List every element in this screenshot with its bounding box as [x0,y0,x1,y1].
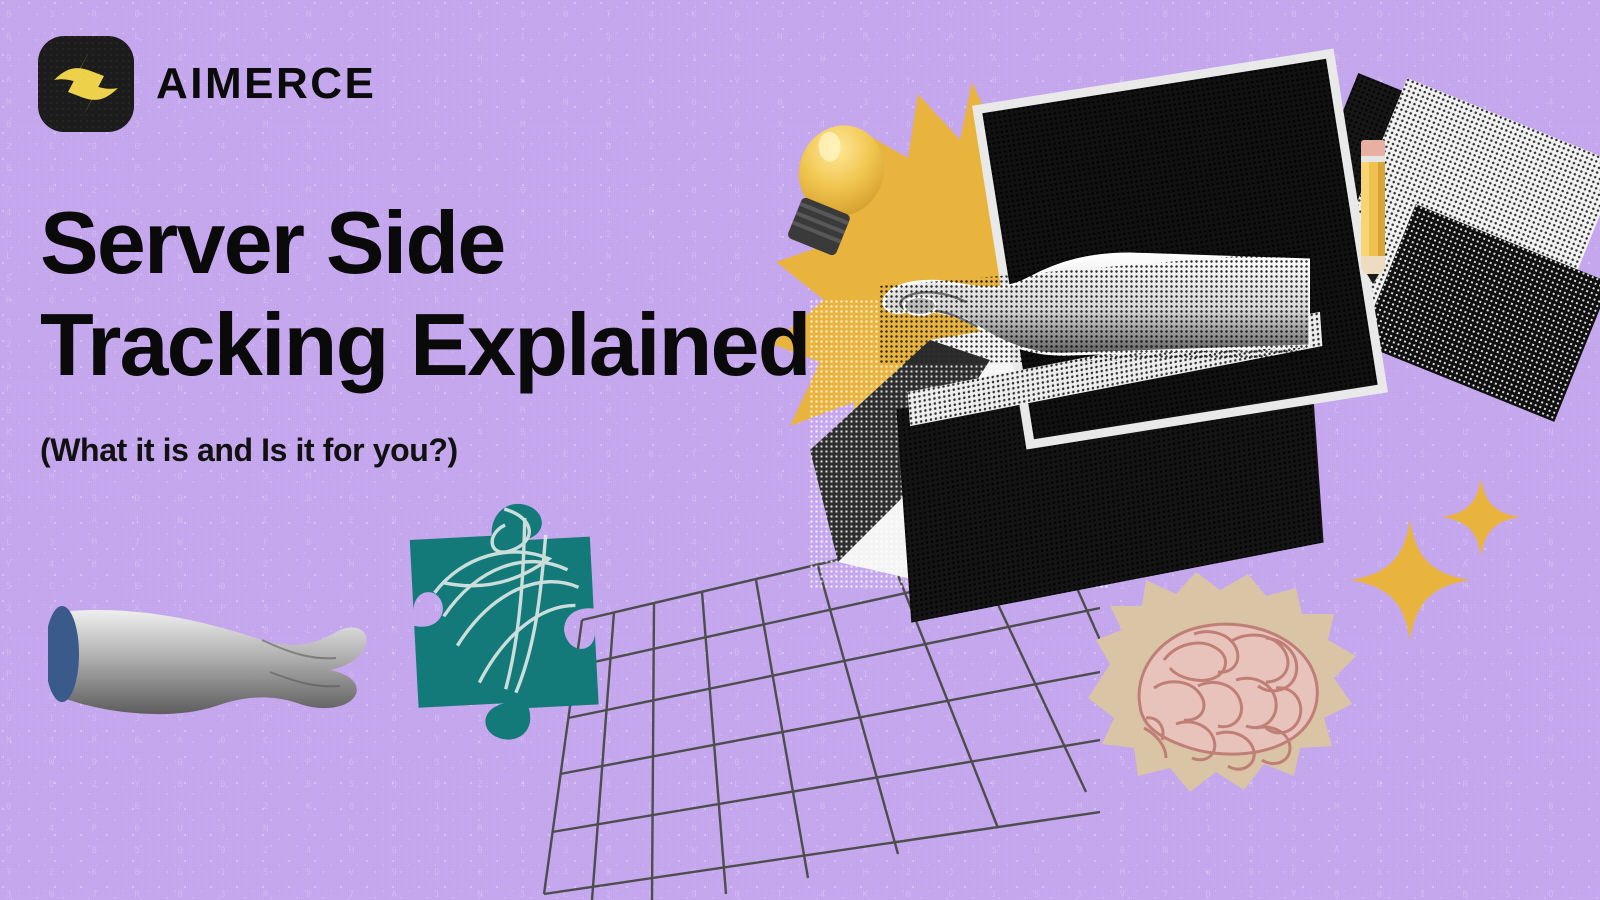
pencil-icon [1352,132,1394,290]
holding-arm [48,600,428,720]
hero-banner: 8 3 R 0 7 A 1 N 5 C 2 E 9 0 T 4 K 6 G 1 … [0,0,1600,900]
puzzle-piece [398,498,608,748]
brand-name: AIMERCE [156,62,376,106]
brand-logo[interactable]: AIMERCE [38,36,376,132]
page-subtitle: (What it is and Is it for you?) [40,432,458,469]
sparkle-icon-small [1442,478,1520,556]
page-title-line-2: Tracking Explained [40,294,810,396]
page-title-line-1: Server Side [40,192,810,294]
reaching-hand [880,250,1310,370]
aimerce-spark-logo-icon [38,36,134,132]
brain-illustration [1080,568,1360,798]
page-title: Server Side Tracking Explained [40,192,810,396]
